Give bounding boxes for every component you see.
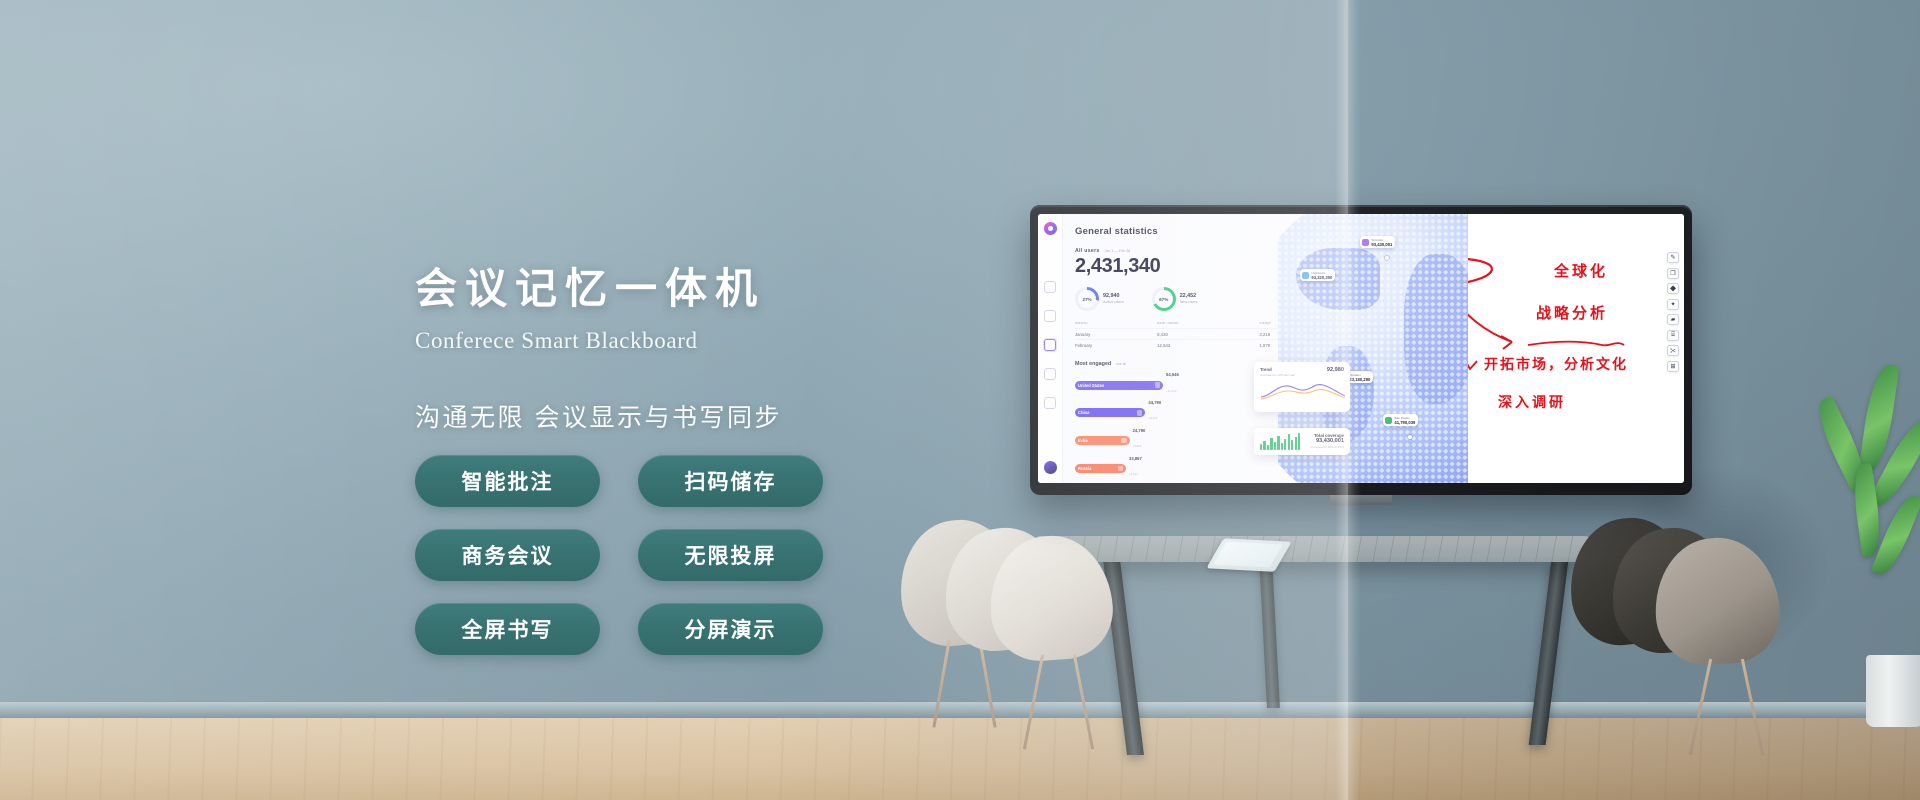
engaged-bar: Russia (1075, 464, 1126, 473)
red-ink-strokes (1468, 214, 1684, 483)
eraser-icon[interactable]: ▰ (1667, 314, 1679, 325)
shape-filled-icon[interactable]: ◆ (1667, 283, 1679, 294)
engaged-value: 24,790 (1133, 428, 1146, 433)
whiteboard-panel[interactable]: 全球化 战略分析 开拓市场，分析文化 深入调研 ✎ ❐ ◆ ✦ ▰ ⌸ ✂ ⊞ (1468, 214, 1684, 483)
save-icon[interactable]: ⌸ (1667, 330, 1679, 341)
qrcode-icon[interactable]: ⊞ (1667, 361, 1679, 372)
engaged-value: 44,790 (1148, 400, 1161, 405)
dashboard-sidebar (1038, 214, 1063, 483)
scene-root: General statistics All users Jan 1 — Feb… (0, 0, 1920, 800)
col-month: MONTH (1075, 321, 1157, 329)
kpi-new-caption: New users (1180, 300, 1198, 305)
pin-swatch-highlight (1302, 272, 1309, 279)
user-avatar[interactable] (1044, 461, 1057, 474)
donut-percent-active: 27% (1078, 290, 1096, 308)
page-headline: 会议记忆一体机 (415, 255, 1035, 316)
feature-pill-fullscreen-writing[interactable]: 全屏书写 (415, 603, 600, 655)
cell-new-users: 8,430 (1157, 329, 1259, 340)
floor-shadow (0, 718, 1920, 800)
kpi-new-users: 67% 22,452 New users (1152, 287, 1198, 311)
map-pin-saopaulo[interactable]: São Paulo 41,790,039 (1383, 414, 1418, 426)
calendar-icon[interactable] (1044, 310, 1056, 322)
engaged-delta: +5,820 (1133, 444, 1142, 448)
feature-pill-qr-storage[interactable]: 扫码储存 (638, 455, 823, 507)
col-new-users: NEW USERS (1157, 321, 1259, 329)
country-flag-icon (1118, 466, 1124, 472)
annotation-globalization: 全球化 (1554, 260, 1608, 281)
page-subheadline: Conferece Smart Blackboard (415, 328, 1035, 354)
trend-card-sub: Compared to 12% last year (1260, 373, 1295, 377)
engaged-country: India (1078, 438, 1088, 443)
engaged-delta: +4,221 (1129, 472, 1138, 476)
date-range-selector[interactable]: Jan 1 — Feb 28 (1105, 249, 1131, 253)
annotation-deep-research: 深入调研 (1498, 392, 1566, 412)
brand-logo-icon (1044, 222, 1057, 235)
kpi-active-value: 92,940 (1103, 293, 1124, 300)
board-toolbar[interactable]: ✎ ❐ ◆ ✦ ▰ ⌸ ✂ ⊞ (1667, 252, 1679, 372)
coverage-bar-chart (1260, 433, 1300, 450)
kpi-active-users: 27% 92,940 Active users (1075, 287, 1124, 311)
pin-text-saopaulo: São Paulo 41,790,039 (1394, 416, 1415, 425)
map-dot-toronto (1385, 256, 1389, 260)
engaged-bar: United States (1075, 381, 1163, 390)
engaged-delta: +11,210 (1166, 389, 1176, 393)
plant-pot (1866, 655, 1920, 727)
feature-pill-business-meeting[interactable]: 商务会议 (415, 529, 600, 581)
engaged-value-group: 44,790+9,210 (1148, 400, 1161, 425)
donut-percent-new: 67% (1155, 290, 1173, 308)
feature-pill-grid: 智能批注 扫码储存 商务会议 无限投屏 全屏书写 分屏演示 (415, 455, 823, 655)
pen-icon[interactable]: ✎ (1667, 252, 1679, 263)
engaged-bar: China (1075, 408, 1145, 417)
engaged-bar: India (1075, 436, 1130, 445)
map-pin-highlight[interactable]: Highlight 93,320,300 (1300, 269, 1335, 281)
page-tagline: 沟通无限 会议显示与书写同步 (415, 398, 1035, 434)
trend-card-header: Trend Compared to 12% last year 92,980 (1260, 367, 1344, 377)
kpi-active-caption: Active users (1103, 300, 1124, 305)
engaged-delta: +9,210 (1148, 416, 1157, 420)
display-screen[interactable]: General statistics All users Jan 1 — Feb… (1038, 214, 1684, 483)
table-surface-grain (1036, 536, 1596, 562)
country-flag-icon (1121, 438, 1127, 444)
feature-pill-unlimited-casting[interactable]: 无限投屏 (638, 529, 823, 581)
trend-card-meta: Trend Compared to 12% last year (1260, 367, 1295, 377)
map-dot-saopaulo (1408, 435, 1412, 439)
kpi-active-meta: 92,940 Active users (1103, 293, 1124, 305)
engaged-value-group: 33,867+4,221 (1129, 456, 1142, 481)
annotation-strategy-analysis: 战略分析 (1536, 302, 1608, 323)
hero-copy: 会议记忆一体机 Conferece Smart Blackboard 沟通无限 … (415, 255, 1035, 434)
potted-plant (1820, 360, 1920, 660)
database-icon[interactable] (1044, 368, 1056, 380)
donut-chart-active: 27% (1075, 287, 1099, 311)
trend-sparkline (1260, 380, 1346, 402)
map-pin-toronto[interactable]: Toronto 93,430,001 (1360, 236, 1395, 248)
engaged-country: United States (1078, 383, 1104, 388)
light-seam (1335, 0, 1361, 800)
copy-icon[interactable]: ❐ (1667, 268, 1679, 279)
pin-value-saopaulo: 41,790,039 (1394, 420, 1415, 425)
dashboard-panel: General statistics All users Jan 1 — Feb… (1038, 214, 1468, 483)
smart-blackboard-display[interactable]: General statistics All users Jan 1 — Feb… (1030, 205, 1692, 495)
most-engaged-see-all[interactable]: see all (1116, 362, 1126, 366)
cell-month: January (1075, 329, 1157, 340)
cell-new-users: 12,543 (1157, 340, 1259, 351)
brush-icon[interactable]: ✦ (1667, 299, 1679, 310)
all-users-label: All users (1075, 248, 1100, 254)
pin-text-highlight: Highlight 93,320,300 (1311, 271, 1332, 280)
engaged-value: 54,546 (1166, 372, 1179, 377)
feature-pill-smart-annotation[interactable]: 智能批注 (415, 455, 600, 507)
pin-value-toronto: 93,430,001 (1371, 242, 1392, 247)
country-flag-icon (1155, 382, 1161, 388)
pin-swatch-toronto (1362, 239, 1369, 246)
engaged-value-group: 24,790+5,820 (1133, 428, 1146, 453)
kpi-new-meta: 22,452 New users (1180, 293, 1198, 305)
donut-chart-new: 67% (1152, 287, 1176, 311)
pin-text-toronto: Toronto 93,430,001 (1371, 238, 1392, 247)
most-engaged-title: Most engaged (1075, 361, 1111, 367)
country-flag-icon (1137, 410, 1143, 416)
globe-icon[interactable] (1044, 339, 1056, 351)
cut-icon[interactable]: ✂ (1667, 345, 1679, 356)
annotation-market-culture: 开拓市场，分析文化 (1484, 354, 1628, 374)
pin-value-highlight: 93,320,300 (1311, 275, 1332, 280)
grid-icon[interactable] (1044, 281, 1056, 293)
engaged-country: China (1078, 410, 1089, 415)
engaged-value-group: 54,546+11,210 (1166, 372, 1179, 397)
engaged-value: 33,867 (1129, 456, 1142, 461)
trend-card-title: Trend (1260, 367, 1295, 372)
feature-pill-split-presentation[interactable]: 分屏演示 (638, 603, 823, 655)
cell-month: February (1075, 340, 1157, 351)
kpi-new-value: 22,452 (1180, 293, 1198, 300)
settings-icon[interactable] (1044, 397, 1056, 409)
coverage-card-header: Total coverage 93,430,001 Compared to 92… (1260, 433, 1344, 450)
engaged-country: Russia (1078, 466, 1091, 471)
pin-swatch-saopaulo (1385, 417, 1392, 424)
